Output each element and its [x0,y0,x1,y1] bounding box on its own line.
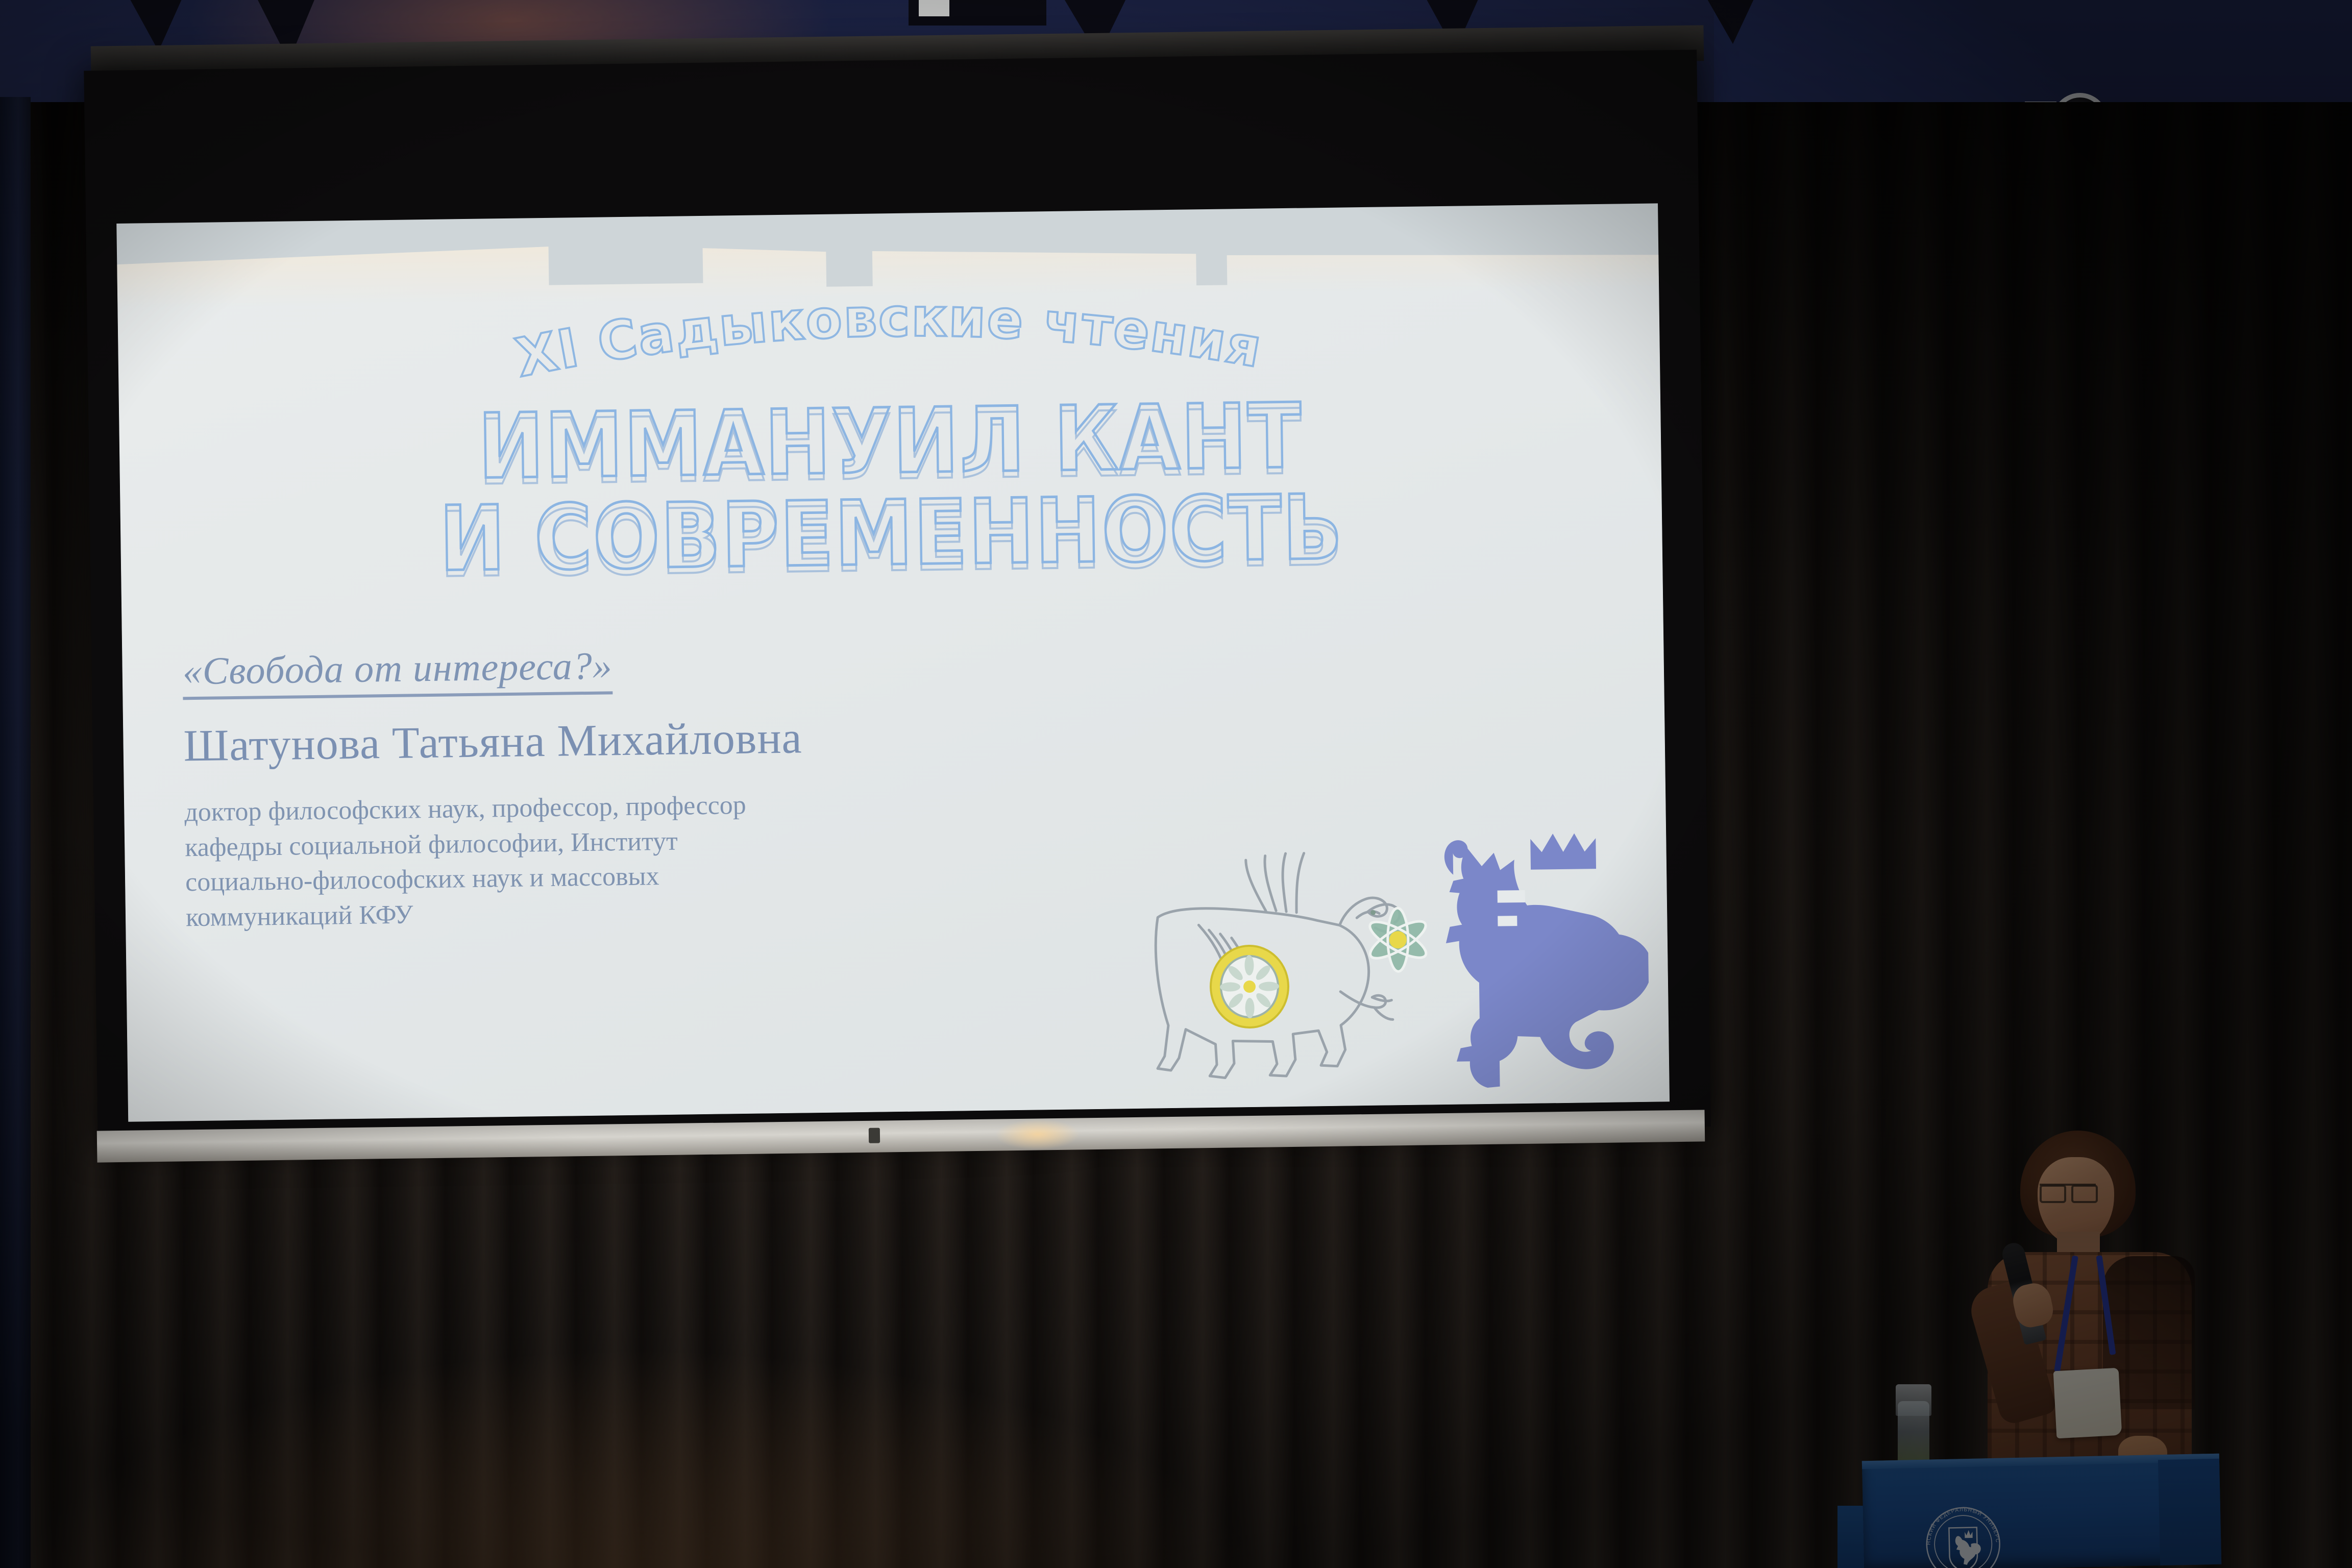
conference-badge [2053,1368,2122,1439]
screen-bar-highlight [981,1118,1094,1151]
speaker-glasses-icon [2040,1184,2096,1199]
conference-hall-scene: XI Садыковские чтения ИММАНУИЛ КАНТ ИММА… [0,0,2352,1568]
ceiling-light-panel-icon [919,0,949,16]
slide-event-title-text: XI Садыковские чтения [510,281,1267,389]
slide-main-title-line2-text: И СОВРЕМЕННОСТЬ [439,476,1344,592]
screen-surface: XI Садыковские чтения ИММАНУИЛ КАНТ ИММА… [116,203,1670,1121]
slide-event-title: XI Садыковские чтения [117,278,1660,390]
slide-affiliation: доктор философских наук, профессор, проф… [184,788,788,936]
atom-symbol-icon [1365,908,1431,972]
podium-university-emblem: КАЗАНСКИЙ ФЕДЕРАЛЬНЫЙ УНИВЕРСИТЕТ [1919,1500,2007,1568]
affiliation-line: коммуникаций КФУ [186,893,789,936]
rosette-wheel-icon [1210,945,1289,1028]
water-bottle [1898,1401,1929,1467]
speaker-podium: КАЗАНСКИЙ ФЕДЕРАЛЬНЫЙ УНИВЕРСИТЕТ [1862,1454,2221,1568]
svg-text:XI Садыковские чтения: XI Садыковские чтения [510,281,1267,389]
screen-pull-handle[interactable] [869,1128,880,1143]
slide-emblems [1136,819,1650,1101]
projected-slide: XI Садыковские чтения ИММАНУИЛ КАНТ ИММА… [117,227,1670,1121]
stage-left-wall-edge [0,97,31,1568]
podium-right-face [2158,1459,2221,1565]
slide-main-title-line2: И СОВРЕМЕННОСТЬ И СОВРЕМЕННОСТЬ [212,473,1570,595]
zilant-dragon-emblem [1444,832,1650,1088]
slide-text-block: «Свобода от интереса?» Шатунова Татьяна … [182,638,1053,936]
slide-talk-title: «Свобода от интереса?» [182,644,612,700]
slide-speaker-name: Шатунова Татьяна Михайловна [183,709,1051,772]
projection-screen: XI Садыковские чтения ИММАНУИЛ КАНТ ИММА… [84,50,1710,1147]
speaker-person [1950,1131,2215,1488]
